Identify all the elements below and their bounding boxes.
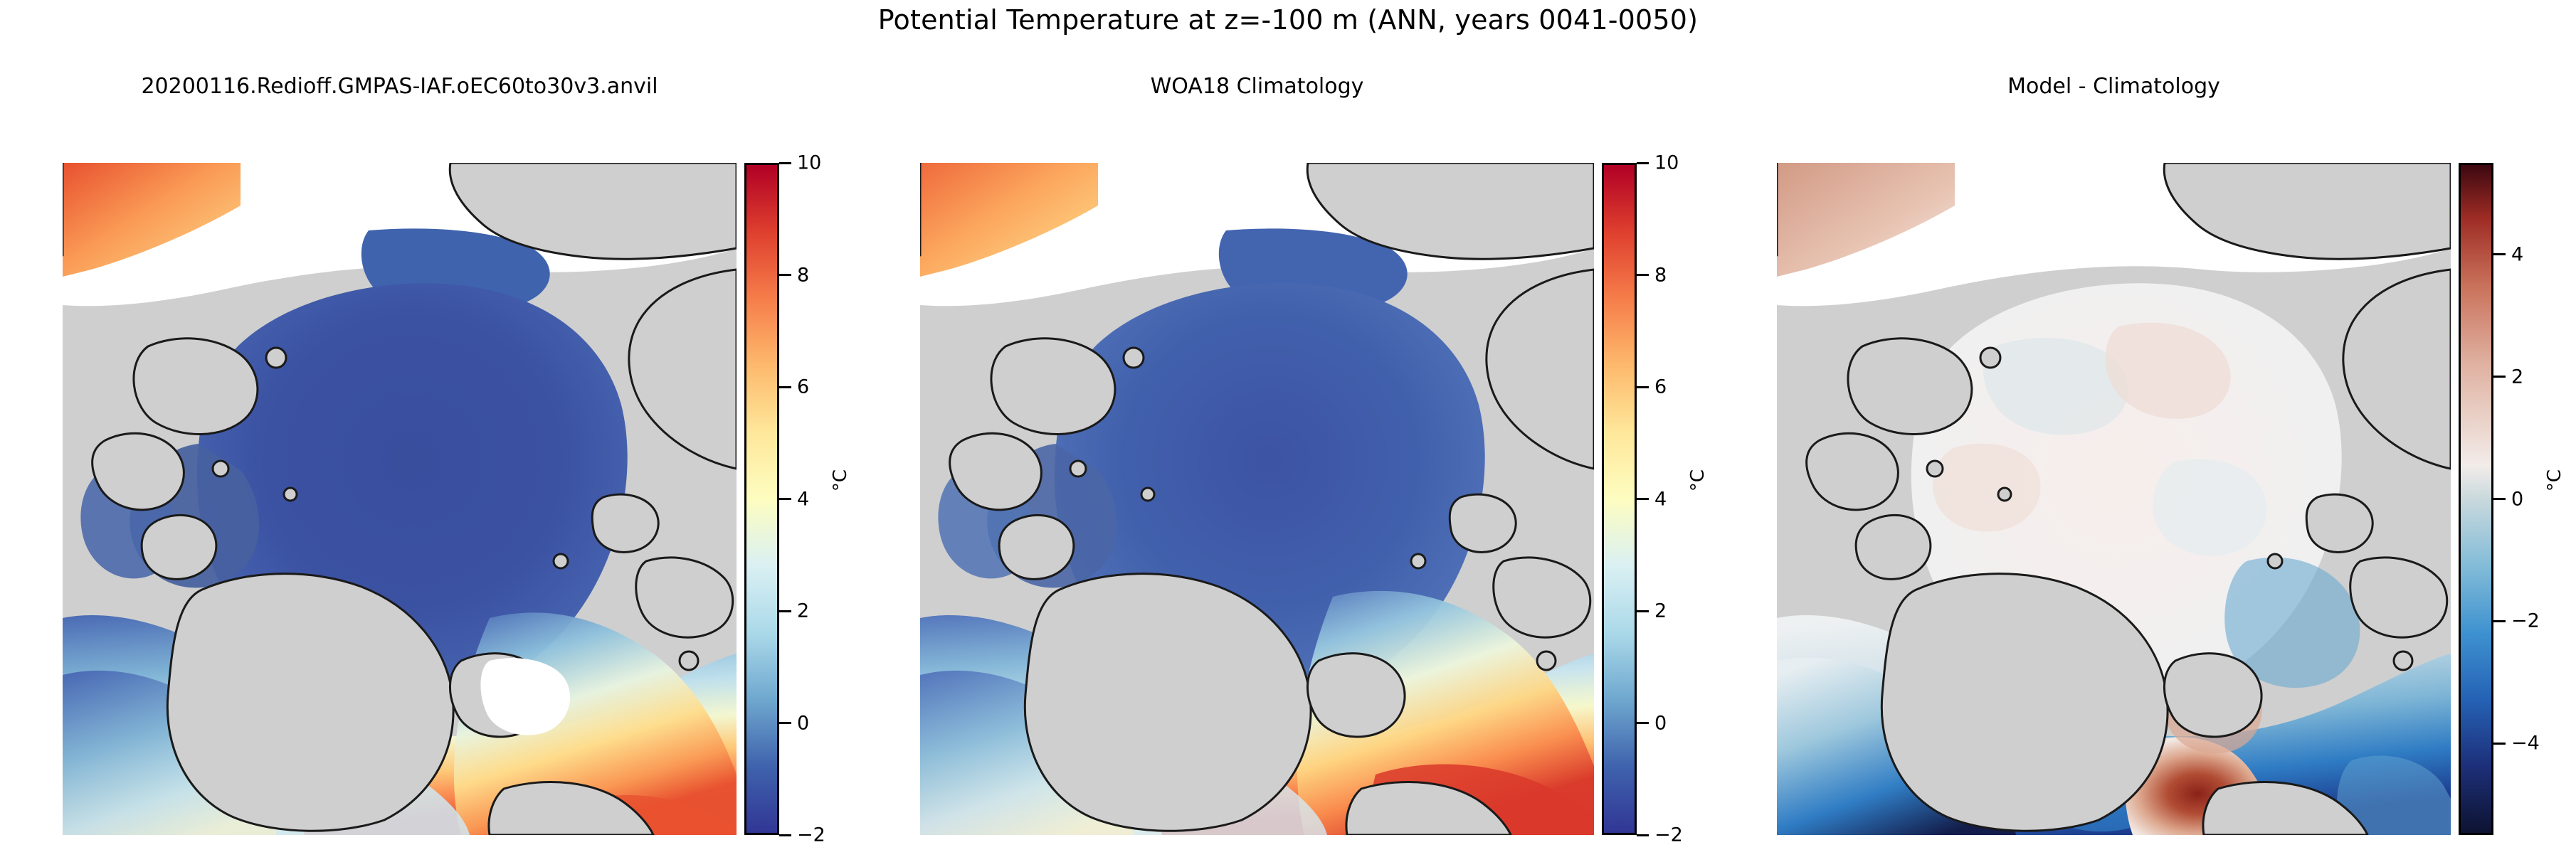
colorbar-ticks-model: −20246810 bbox=[779, 163, 879, 835]
colorbar-ticklabel: 4 bbox=[797, 489, 809, 509]
colorbar-difference bbox=[2459, 163, 2493, 835]
colorbar-ticklabel: 4 bbox=[2511, 245, 2523, 264]
colorbar-ticklabel: 2 bbox=[2511, 367, 2523, 386]
colorbar-tickmark bbox=[779, 722, 791, 724]
colorbar-ticklabel: 6 bbox=[797, 378, 809, 397]
colorbar-tickmark bbox=[1637, 498, 1649, 500]
figure-canvas: Potential Temperature at z=-100 m (ANN, … bbox=[0, 0, 2576, 862]
map-area-difference bbox=[1777, 163, 2451, 835]
panel-title-climatology: WOA18 Climatology bbox=[920, 74, 1594, 99]
colorbar-tickmark bbox=[2493, 376, 2506, 378]
colorbar-ticklabel: 10 bbox=[797, 154, 821, 173]
colorbar-ticks-difference: −4−2024 bbox=[2493, 163, 2576, 835]
colorbar-tickmark bbox=[1637, 610, 1649, 612]
colorbar-ticklabel: −2 bbox=[2511, 612, 2540, 631]
colorbar-tickmark bbox=[779, 162, 791, 164]
colorbar-tickmark bbox=[779, 498, 791, 500]
colorbar-climatology bbox=[1602, 163, 1637, 835]
colorbar-gradient-difference bbox=[2461, 165, 2491, 833]
colorbar-tickmark bbox=[1637, 722, 1649, 724]
colorbar-tickmark bbox=[2493, 498, 2506, 500]
colorbar-ticklabel: −4 bbox=[2511, 734, 2540, 753]
colorbar-ticklabel: 6 bbox=[1654, 378, 1667, 397]
colorbar-model bbox=[744, 163, 779, 835]
colorbar-tickmark bbox=[2493, 743, 2506, 745]
colorbar-ticklabel: 0 bbox=[1654, 713, 1667, 733]
colorbar-tickmark bbox=[779, 386, 791, 388]
figure-title: Potential Temperature at z=-100 m (ANN, … bbox=[0, 4, 2576, 36]
colorbar-ticklabel: 0 bbox=[797, 713, 809, 733]
map-area-model bbox=[63, 163, 737, 835]
map-svg-climatology bbox=[920, 163, 1594, 835]
colorbar-tickmark bbox=[779, 834, 791, 836]
colorbar-ticklabel: 10 bbox=[1654, 154, 1679, 173]
map-panel-model[interactable] bbox=[63, 163, 737, 835]
map-svg-model bbox=[63, 163, 737, 835]
map-svg-difference bbox=[1777, 163, 2451, 835]
colorbar-unit-model: °C bbox=[830, 469, 851, 491]
colorbar-ticklabel: 2 bbox=[797, 602, 809, 621]
colorbar-tickmark bbox=[1637, 274, 1649, 276]
colorbar-unit-climatology: °C bbox=[1687, 469, 1709, 491]
colorbar-ticklabel: 4 bbox=[1654, 489, 1667, 509]
colorbar-tickmark bbox=[2493, 253, 2506, 255]
colorbar-gradient-climatology bbox=[1604, 165, 1635, 833]
panel-title-model: 20200116.Redioff.GMPAS-IAF.oEC60to30v3.a… bbox=[63, 74, 737, 99]
colorbar-ticklabel: −2 bbox=[797, 826, 825, 845]
panel-title-difference: Model - Climatology bbox=[1777, 74, 2451, 99]
colorbar-tickmark bbox=[1637, 162, 1649, 164]
colorbar-ticks-climatology: −20246810 bbox=[1637, 163, 1736, 835]
map-panel-difference[interactable] bbox=[1777, 163, 2451, 835]
map-panel-climatology[interactable] bbox=[920, 163, 1594, 835]
colorbar-ticklabel: 0 bbox=[2511, 489, 2523, 509]
colorbar-ticklabel: −2 bbox=[1654, 826, 1683, 845]
colorbar-tickmark bbox=[1637, 386, 1649, 388]
colorbar-tickmark bbox=[1637, 834, 1649, 836]
colorbar-ticklabel: 8 bbox=[797, 265, 809, 284]
colorbar-unit-difference: °C bbox=[2544, 469, 2565, 491]
colorbar-tickmark bbox=[779, 274, 791, 276]
colorbar-tickmark bbox=[2493, 620, 2506, 622]
colorbar-tickmark bbox=[779, 610, 791, 612]
colorbar-ticklabel: 2 bbox=[1654, 602, 1667, 621]
colorbar-gradient-model bbox=[746, 165, 777, 833]
map-area-climatology bbox=[920, 163, 1594, 835]
colorbar-ticklabel: 8 bbox=[1654, 265, 1667, 284]
